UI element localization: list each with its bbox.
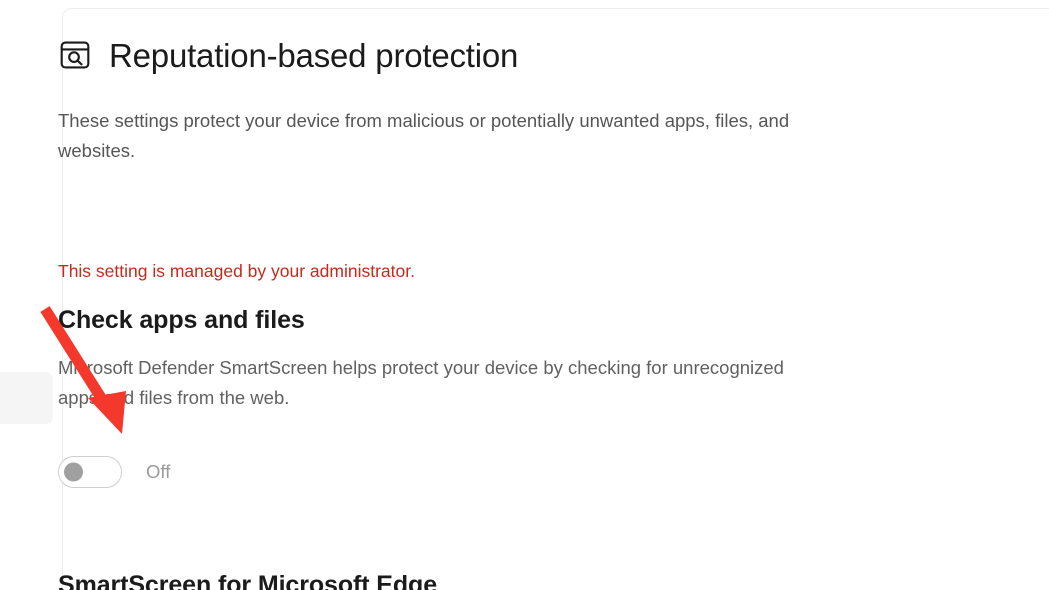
sidebar-item-partial[interactable] bbox=[0, 372, 53, 424]
reputation-shield-search-icon bbox=[58, 38, 92, 72]
check-apps-section-description: Microsoft Defender SmartScreen helps pro… bbox=[58, 353, 788, 413]
check-apps-toggle-row: Off bbox=[58, 455, 170, 489]
check-apps-toggle-label: Off bbox=[146, 463, 170, 482]
page-description: These settings protect your device from … bbox=[58, 106, 810, 166]
admin-managed-note: This setting is managed by your administ… bbox=[58, 259, 415, 283]
page-title: Reputation-based protection bbox=[109, 39, 518, 72]
toggle-knob bbox=[64, 463, 83, 482]
settings-window: Reputation-based protection These settin… bbox=[0, 0, 1049, 590]
sidebar-rail bbox=[0, 0, 62, 590]
page-header: Reputation-based protection bbox=[58, 31, 518, 79]
edge-section-title: SmartScreen for Microsoft Edge bbox=[58, 568, 437, 590]
check-apps-toggle[interactable] bbox=[58, 456, 122, 488]
check-apps-section-title: Check apps and files bbox=[58, 303, 305, 337]
content-panel bbox=[62, 8, 1049, 590]
